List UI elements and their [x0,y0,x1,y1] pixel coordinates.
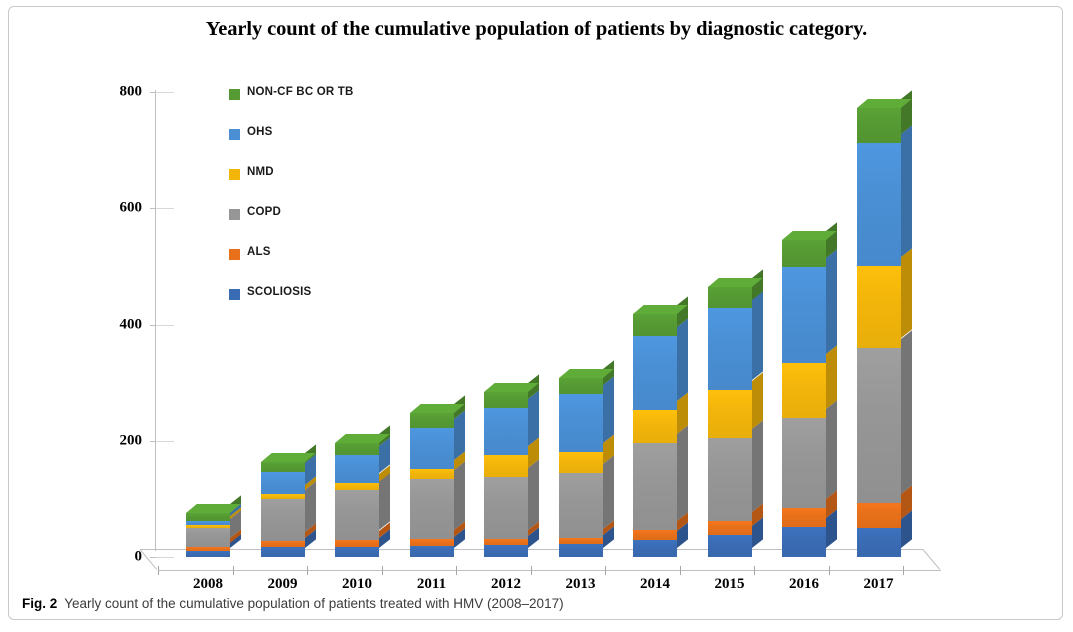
bar-segment[interactable] [186,525,230,528]
bar-segment-side [379,473,390,531]
bar-segment-side [677,425,688,521]
bar-segment-front [559,544,603,557]
legend-swatch-icon [229,209,240,220]
bar-segment[interactable] [335,540,379,547]
bar-segment[interactable] [782,267,826,363]
bar-segment-side [677,319,688,401]
bar-segment[interactable] [559,473,603,538]
bar-segment[interactable] [559,394,603,452]
bar-segment-front [186,547,230,552]
legend-swatch-icon [229,289,240,300]
bar-segment[interactable] [857,266,901,347]
bar-segment[interactable] [782,418,826,508]
bar-segment-front [857,108,901,143]
bar-segment-front [261,541,305,547]
bar-segment-front [484,455,528,477]
figure-page: Yearly count of the cumulative populatio… [0,0,1073,632]
bar-segment[interactable] [335,483,379,491]
y-axis-label: 600 [82,200,142,217]
bar-segment[interactable] [559,538,603,544]
y-axis-depth-gridline [156,92,174,93]
floor-left-edge [140,549,157,570]
y-axis-depth-gridline [156,441,174,442]
legend-item-label: OHS [247,126,273,138]
bar-segment-front [186,513,230,521]
bar-segment[interactable] [633,336,677,410]
bar-segment-front [484,392,528,408]
bar-segment[interactable] [857,108,901,143]
bar-segment[interactable] [633,410,677,443]
bar-segment[interactable] [708,308,752,389]
bar-segment[interactable] [186,551,230,557]
bar-segment-front [261,494,305,499]
bar-segment-front [335,455,379,482]
bar-segment-front [186,551,230,557]
bar-segment[interactable] [186,528,230,547]
bar-segment-front [261,499,305,541]
x-axis-tick [456,566,457,575]
bar-segment-front [708,438,752,521]
bar-segment-front [261,547,305,557]
y-axis-depth-gridline [156,325,174,326]
y-axis-label: 400 [82,316,142,333]
bar-segment[interactable] [261,472,305,494]
bar-segment-side [826,400,837,499]
x-axis-tick [382,566,383,575]
bar-segment[interactable] [261,547,305,557]
legend-swatch-icon [229,169,240,180]
bar-segment-front [633,314,677,336]
legend-swatch-icon [229,89,240,100]
bar-segment-front [782,363,826,418]
floor-right-edge [923,549,940,570]
x-axis-label: 2008 [168,576,248,593]
bar-segment[interactable] [410,469,454,479]
bar-segment-front [708,521,752,535]
bar-segment[interactable] [857,143,901,266]
bar-segment-front [857,143,901,266]
y-axis-depth-gridline [156,557,174,558]
bar-segment[interactable] [559,452,603,473]
legend-item-label: NON-CF BC OR TB [247,86,354,98]
bar-segment-front [633,540,677,557]
bar-segment[interactable] [484,455,528,477]
bar-segment-front [559,452,603,473]
bar-segment[interactable] [186,547,230,552]
y-axis-line [155,90,156,551]
legend-item-label: COPD [247,206,281,218]
bar-segment-front [782,527,826,557]
bar-segment-side [901,249,912,339]
x-axis-label: 2012 [466,576,546,593]
bar-segment[interactable] [261,499,305,541]
bar-segment-front [335,540,379,547]
bar-segment-front [857,266,901,347]
bar-segment[interactable] [410,546,454,557]
x-axis-label: 2017 [839,576,919,593]
bar-segment-side [752,291,763,381]
bar-segment[interactable] [261,541,305,547]
bar-segment[interactable] [782,240,826,267]
x-axis-label: 2013 [541,576,621,593]
x-axis-label: 2014 [615,576,695,593]
y-axis-depth-gridline [156,208,174,209]
x-axis-tick [531,566,532,575]
bar-segment[interactable] [410,479,454,539]
x-axis-tick [233,566,234,575]
bar-segment[interactable] [708,287,752,309]
bar-segment[interactable] [633,314,677,336]
bar-segment[interactable] [410,539,454,546]
bar-segment-front [782,240,826,267]
bar-segment-side [901,90,912,134]
bar-segment[interactable] [559,378,603,394]
bar-segment-front [857,503,901,528]
bar-segment-side [603,377,614,443]
x-axis-tick [307,566,308,575]
bar-segment-front [335,490,379,539]
bar-segment-side [901,126,912,258]
bar-segment-front [186,521,230,525]
bar-segment-front [261,472,305,494]
y-axis-label: 200 [82,432,142,449]
floor-bottom-edge [158,570,941,571]
bar-segment-front [410,469,454,479]
bar-segment-front [335,443,379,455]
bar-segment[interactable] [559,544,603,557]
bar-segment-front [559,394,603,452]
bar-segment[interactable] [484,539,528,545]
bar-segment[interactable] [186,521,230,525]
bar-segment-side [901,330,912,494]
caption-text: Yearly count of the cumulative populatio… [64,596,563,611]
bar-segment[interactable] [708,390,752,438]
bar-segment-front [708,535,752,557]
figure-caption: Fig. 2Yearly count of the cumulative pop… [22,596,1052,611]
bar-segment-side [752,420,763,512]
bar-segment-front [335,483,379,491]
legend-item-label: ALS [247,246,271,258]
legend-swatch-icon [229,249,240,260]
bar-segment-front [782,418,826,508]
bar-segment-front [484,477,528,539]
bar-segment[interactable] [708,535,752,557]
bar-segment[interactable] [782,527,826,557]
x-axis-label: 2010 [317,576,397,593]
bar-segment[interactable] [857,503,901,528]
bar-segment[interactable] [484,392,528,408]
bar-segment-front [708,390,752,438]
bar-segment-front [484,539,528,545]
bar-segment-side [305,481,316,531]
bar-segment-front [782,508,826,527]
bar-segment[interactable] [484,477,528,539]
legend-item-label: NMD [247,166,274,178]
bar-segment-front [559,473,603,538]
bar-segment-front [410,539,454,546]
bar-segment[interactable] [261,462,305,472]
caption-label: Fig. 2 [22,596,57,611]
bar-segment[interactable] [782,508,826,527]
bar-segment-front [708,287,752,309]
bar-segment[interactable] [410,428,454,469]
bar-segment-front [633,443,677,530]
bar-segment-front [335,547,379,557]
bar-segment-front [484,408,528,455]
bar-segment[interactable] [633,443,677,530]
bar-segment[interactable] [633,540,677,557]
bar-segment[interactable] [186,513,230,521]
x-axis-label: 2016 [764,576,844,593]
bar-segment-front [857,528,901,557]
bar-segment-front [410,546,454,557]
bar-segment-front [633,530,677,540]
bar-segment-side [528,390,539,446]
bar-segment[interactable] [708,521,752,535]
bar-segment-side [454,461,465,530]
bar-segment-front [782,267,826,363]
y-axis-label: 0 [82,549,142,566]
bar-segment[interactable] [708,438,752,521]
bar-segment[interactable] [335,490,379,539]
bar-segment-front [633,336,677,410]
x-axis-tick [158,566,159,575]
x-axis-label: 2011 [392,576,472,593]
x-axis-tick [605,566,606,575]
bar-segment-front [261,462,305,472]
bar-segment[interactable] [335,547,379,557]
chart-plot-area: 0200400600800200820092010201120122013201… [0,0,1073,600]
bar-segment-front [633,410,677,443]
bar-segment[interactable] [857,528,901,557]
bar-segment-front [484,545,528,557]
bar-segment[interactable] [484,545,528,557]
bar-segment-front [559,378,603,394]
bar-segment[interactable] [410,413,454,428]
bar-segment[interactable] [335,443,379,455]
bar-segment-front [186,525,230,528]
x-axis-tick [754,566,755,575]
bar-segment-front [410,413,454,428]
legend-item-label: SCOLIOSIS [247,286,311,298]
bar-segment-front [410,428,454,469]
y-axis-label: 800 [82,84,142,101]
bar-segment[interactable] [633,530,677,540]
bar-segment-side [752,372,763,429]
bar-segment-front [186,528,230,547]
legend-swatch-icon [229,129,240,140]
x-axis-tick [903,566,904,575]
bar-segment-front [857,348,901,503]
bar-segment-front [708,308,752,389]
bar-segment-side [826,345,837,409]
x-axis-tick [680,566,681,575]
bar-segment[interactable] [484,408,528,455]
bar-segment[interactable] [782,363,826,418]
bar-segment-side [528,459,539,530]
x-axis-label: 2015 [690,576,770,593]
x-axis-tick [829,566,830,575]
bar-segment-side [603,455,614,529]
bar-segment[interactable] [857,348,901,503]
bar-segment[interactable] [261,494,305,499]
x-axis-label: 2009 [243,576,323,593]
bar-segment[interactable] [335,455,379,482]
bar-segment-front [410,479,454,539]
bar-segment-side [826,249,837,354]
bar-segment-front [559,538,603,544]
